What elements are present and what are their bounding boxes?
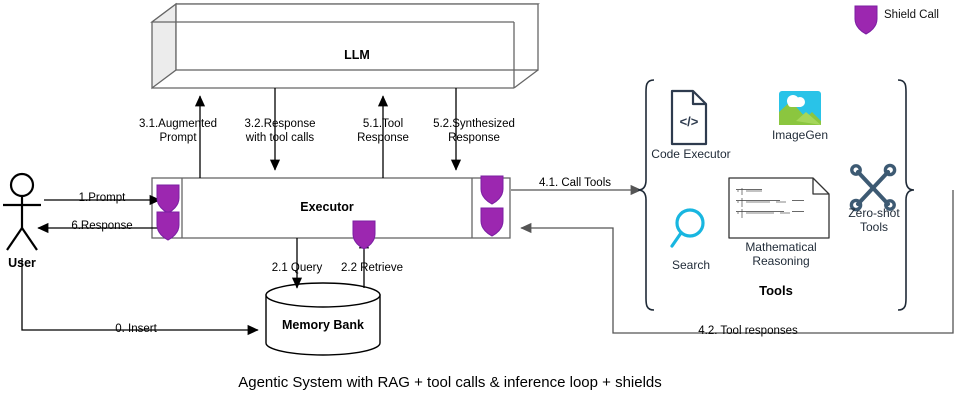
code-file-icon: </> bbox=[672, 91, 706, 144]
diagram-caption: Agentic System with RAG + tool calls & i… bbox=[0, 374, 900, 391]
tool-label-mathematical-reasoning: Mathematical Reasoning bbox=[735, 240, 827, 268]
edge-label-call-tools: 4.1. Call Tools bbox=[527, 177, 623, 191]
edge-label-response-with-tool-calls: 3.2.Response with tool calls bbox=[232, 118, 328, 145]
math-document-icon bbox=[729, 178, 829, 238]
edge-label-prompt: 1.Prompt bbox=[62, 192, 142, 206]
tools-brace-right bbox=[898, 80, 914, 310]
edge-label-retrieve: 2.2 Retrieve bbox=[330, 262, 414, 276]
edge-label-synthesized-response: 5.2.Synthesized Response bbox=[426, 118, 522, 145]
edge-label-augmented-prompt: 3.1.Augmented Prompt bbox=[138, 118, 218, 145]
tools-group-label: Tools bbox=[716, 283, 836, 298]
svg-text:</>: </> bbox=[680, 114, 699, 129]
image-gen-icon bbox=[779, 91, 821, 125]
executor-label: Executor bbox=[182, 200, 472, 214]
user-label: User bbox=[0, 256, 44, 270]
tool-label-zero-shot-tools: Zero-shot Tools bbox=[838, 206, 910, 234]
search-icon bbox=[672, 210, 703, 246]
llm-box bbox=[152, 4, 538, 88]
shield-icon-memory bbox=[353, 221, 375, 249]
legend-label: Shield Call bbox=[884, 9, 939, 21]
tools-brace-left bbox=[638, 80, 654, 310]
user-actor-icon bbox=[3, 174, 41, 250]
edge-label-tool-responses: 4.2. Tool responses bbox=[672, 325, 824, 339]
edge-label-tool-response: 5.1.Tool Response bbox=[345, 118, 421, 145]
crossed-wrenches-icon bbox=[851, 165, 894, 209]
diagram-canvas: </> bbox=[0, 0, 970, 411]
tool-label-search: Search bbox=[660, 258, 722, 272]
llm-label: LLM bbox=[176, 48, 538, 62]
edge-label-insert: 0. Insert bbox=[96, 323, 176, 337]
tool-label-code-executor: Code Executor bbox=[646, 147, 736, 161]
tool-label-imagegen: ImageGen bbox=[760, 128, 840, 142]
memory-bank-label: Memory Bank bbox=[266, 318, 380, 332]
shield-icon-legend bbox=[855, 6, 877, 34]
edge-label-response: 6.Response bbox=[56, 220, 148, 234]
edge-label-query: 2.1 Query bbox=[262, 262, 332, 276]
